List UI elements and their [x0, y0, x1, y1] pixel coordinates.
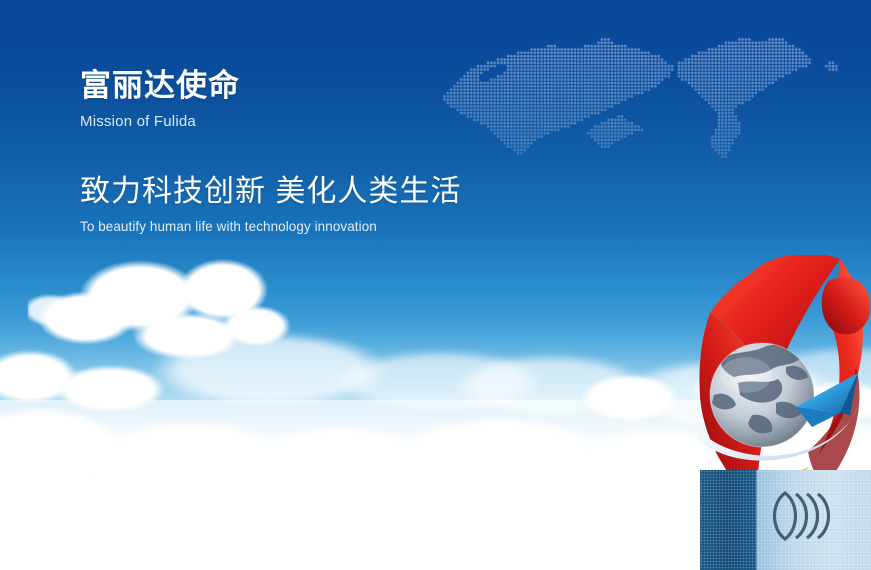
headline-block: 富丽达使命 Mission of Fulida: [80, 66, 500, 132]
slogan-english: To beautify human life with technology i…: [80, 217, 377, 235]
fulida-logo-mark: [765, 485, 835, 547]
cloud-left-puff: [0, 325, 190, 435]
slogan-chinese: 致力科技创新 美化人类生活: [80, 172, 461, 212]
banner-stage: 富丽达使命 Mission of Fulida 致力科技创新 美化人类生活 To…: [0, 0, 871, 570]
heading-english: Mission of Fulida: [80, 112, 500, 132]
heading-chinese: 富丽达使命: [80, 66, 500, 106]
dotted-world-map: [440, 35, 871, 225]
red-ribbon-knot: [822, 277, 871, 334]
